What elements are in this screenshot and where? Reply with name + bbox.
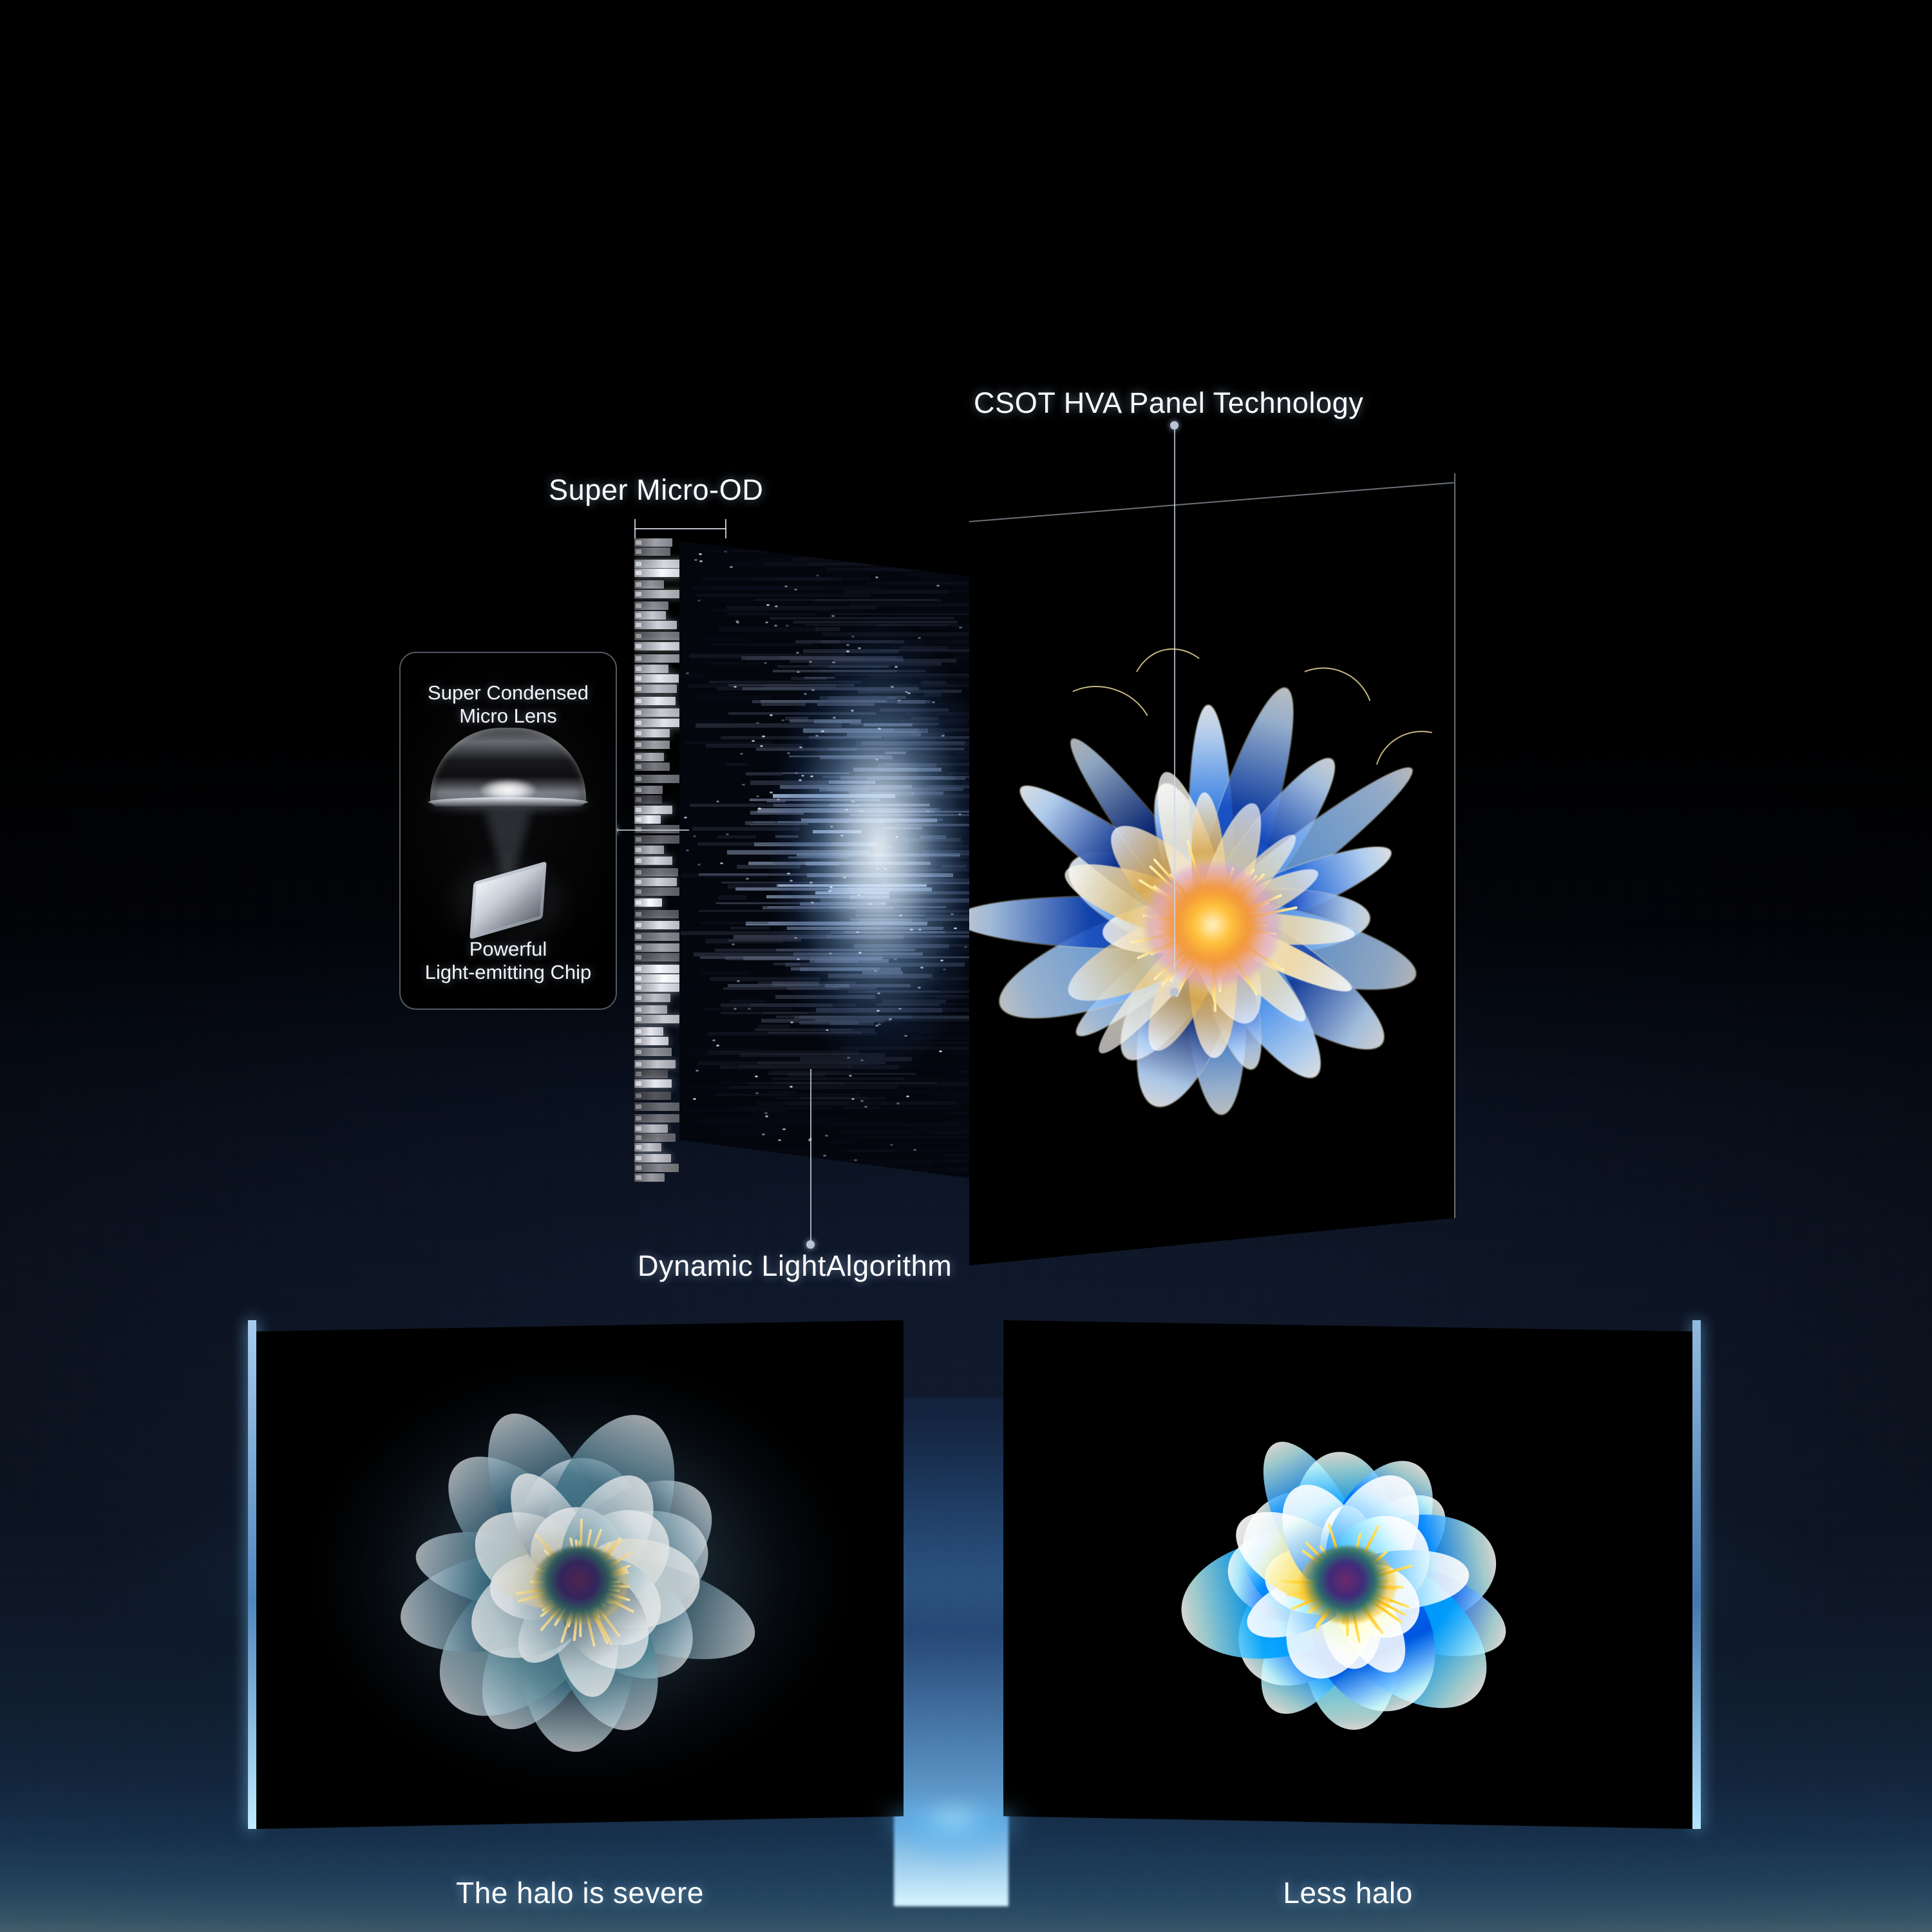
backlight-specular-dot xyxy=(918,637,921,639)
backlight-slice xyxy=(814,599,941,601)
led-emitter-dot xyxy=(636,923,641,927)
backlight-specular-dot xyxy=(693,1098,696,1100)
leader-line-microlens xyxy=(613,829,689,831)
micro-lens-callout-box: Super Condensed Micro Lens Powerful Ligh… xyxy=(399,652,617,1010)
backlight-slice xyxy=(690,1176,770,1178)
led-emitter-dot xyxy=(636,788,641,792)
backlight-slice xyxy=(687,987,706,990)
backlight-specular-dot xyxy=(906,1095,909,1097)
backlight-slice xyxy=(722,1164,858,1167)
led-emitter-dot xyxy=(636,858,641,863)
backlight-slice xyxy=(681,674,708,678)
caption-left-tv: The halo is severe xyxy=(256,1875,904,1910)
led-emitter-dot xyxy=(636,1007,641,1012)
led-emitter-dot xyxy=(636,955,641,960)
led-emitter-dot xyxy=(636,1029,641,1034)
led-strip-segment xyxy=(634,654,683,663)
led-strip-segment xyxy=(634,835,682,844)
led-strip-segment xyxy=(634,953,686,961)
backlight-specular-dot xyxy=(736,621,739,623)
backlight-slice xyxy=(911,1182,965,1185)
backlight-specular-dot xyxy=(851,800,855,802)
backlight-specular-dot xyxy=(790,880,793,882)
backlight-specular-dot xyxy=(852,547,855,549)
backlight-specular-dot xyxy=(737,980,740,982)
backlight-slice xyxy=(693,692,744,696)
backlight-slice xyxy=(808,562,956,565)
backlight-specular-dot xyxy=(833,717,836,719)
led-emitter-dot xyxy=(636,764,641,769)
backlight-specular-dot xyxy=(860,810,863,812)
backlight-slice xyxy=(703,939,728,943)
backlight-specular-dot xyxy=(918,929,922,931)
backlight-specular-dot xyxy=(829,886,833,888)
backlight-specular-dot xyxy=(954,927,957,929)
led-emitter-dot xyxy=(636,667,641,671)
backlight-specular-dot xyxy=(845,809,848,811)
backlight-specular-dot xyxy=(898,1008,902,1010)
led-emitter-dot xyxy=(636,817,641,822)
backlight-specular-dot xyxy=(697,864,701,866)
backlight-specular-dot xyxy=(756,722,759,724)
backlight-specular-dot xyxy=(831,615,835,617)
led-emitter-dot xyxy=(636,699,641,703)
backlight-specular-dot xyxy=(895,666,898,668)
dimension-cap-left xyxy=(634,519,636,538)
led-strip-segment xyxy=(634,1103,684,1111)
label-panel-technology: CSOT HVA Panel Technology xyxy=(974,386,1363,420)
led-emitter-dot xyxy=(636,889,641,894)
backlight-specular-dot xyxy=(734,686,737,688)
backlight-specular-dot xyxy=(732,943,735,945)
led-emitter-dot xyxy=(636,571,641,575)
backlight-slice xyxy=(713,586,785,589)
backlight-specular-dot xyxy=(762,1133,765,1135)
backlight-specular-dot xyxy=(819,555,822,557)
led-emitter-dot xyxy=(636,900,641,905)
led-emitter-dot xyxy=(636,562,641,566)
led-emitter-dot xyxy=(636,540,641,545)
backlight-specular-dot xyxy=(828,890,831,892)
backlight-specular-dot xyxy=(775,605,778,607)
backlight-slice xyxy=(681,1086,728,1089)
led-emitter-dot xyxy=(636,710,641,715)
backlight-specular-dot xyxy=(940,960,943,961)
backlight-specular-dot xyxy=(851,710,854,712)
backlight-slice xyxy=(687,1164,801,1166)
backlight-specular-dot xyxy=(884,868,887,870)
backlight-specular-dot xyxy=(752,740,755,742)
backlight-slice xyxy=(866,582,971,585)
led-emitter-dot xyxy=(636,1156,641,1160)
backlight-specular-dot xyxy=(730,566,733,568)
lens-base-rim xyxy=(428,797,588,807)
backlight-specular-dot xyxy=(890,1144,893,1146)
led-emitter-dot xyxy=(636,976,641,981)
leader-dot-top-panel-tech xyxy=(1170,421,1179,430)
led-emitter-dot xyxy=(636,837,641,842)
backlight-specular-dot xyxy=(849,1075,852,1077)
backlight-slice xyxy=(755,1168,777,1171)
leader-dot-algorithm xyxy=(806,1240,815,1249)
backlight-specular-dot xyxy=(799,746,802,748)
backlight-specular-dot xyxy=(846,650,849,652)
backlight-specular-dot xyxy=(875,576,878,578)
backlight-specular-dot xyxy=(755,1092,759,1094)
led-emitter-dot xyxy=(636,755,641,759)
backlight-specular-dot xyxy=(780,1162,783,1164)
backlight-specular-dot xyxy=(770,791,773,793)
backlight-slice xyxy=(891,1168,969,1172)
led-emitter-dot xyxy=(636,1135,641,1140)
flower-core-glow xyxy=(1145,864,1280,986)
led-emitter-dot xyxy=(636,582,641,587)
led-emitter-dot xyxy=(636,623,641,627)
right-tv-bezel-edge xyxy=(1692,1320,1701,1829)
callout-chip-title-line1: Powerful xyxy=(469,938,547,960)
backlight-specular-dot xyxy=(896,1103,900,1104)
backlight-specular-dot xyxy=(734,1008,737,1010)
callout-chip-title-line2: Light-emitting Chip xyxy=(425,961,591,983)
led-emitter-dot xyxy=(636,656,641,661)
led-emitter-dot xyxy=(636,1081,641,1086)
backlight-specular-dot xyxy=(936,585,940,587)
backlight-slice xyxy=(726,1149,819,1151)
backlight-specular-dot xyxy=(778,1139,781,1141)
backlight-specular-dot xyxy=(726,833,729,835)
backlight-specular-dot xyxy=(795,772,798,774)
led-emitter-dot xyxy=(636,1104,641,1109)
right-tv-screen xyxy=(1003,1320,1692,1829)
backlight-specular-dot xyxy=(696,1070,699,1072)
backlight-specular-dot xyxy=(684,817,687,819)
backlight-specular-dot xyxy=(787,873,790,875)
backlight-specular-dot xyxy=(811,902,814,904)
backlight-specular-dot xyxy=(816,574,819,576)
halo-comparison-section: The halo is severe Less halo xyxy=(0,1320,1932,1932)
backlight-slice xyxy=(795,546,913,549)
backlight-slice xyxy=(706,550,886,553)
led-emitter-dot xyxy=(636,1116,641,1121)
local-dimming-glow xyxy=(741,605,1007,1133)
led-emitter-dot xyxy=(636,808,641,812)
led-emitter-dot xyxy=(636,777,641,781)
backlight-specular-dot xyxy=(686,849,689,851)
led-emitter-dot xyxy=(636,603,641,608)
backlight-specular-dot xyxy=(825,1135,828,1137)
led-emitter-dot xyxy=(636,721,641,725)
backlight-specular-dot xyxy=(829,1163,832,1165)
callout-chip-title: Powerful Light-emitting Chip xyxy=(401,938,616,984)
led-strip-segment xyxy=(634,933,687,941)
backlight-slice xyxy=(699,1182,842,1185)
backlight-specular-dot xyxy=(823,1155,826,1157)
peony-core xyxy=(532,1546,629,1624)
backlight-specular-dot xyxy=(794,589,797,591)
left-tv-bezel-edge xyxy=(248,1320,256,1829)
led-strip-segment xyxy=(634,943,683,952)
backlight-specular-dot xyxy=(840,835,844,837)
led-emitter-dot xyxy=(636,731,641,735)
exploded-panel-diagram: Super Condensed Micro Lens Powerful Ligh… xyxy=(0,0,1932,1340)
backlight-specular-dot xyxy=(920,967,923,969)
callout-lens-title-line2: Micro Lens xyxy=(459,705,557,727)
backlight-specular-dot xyxy=(716,800,719,802)
backlight-slice xyxy=(792,558,909,562)
backlight-specular-dot xyxy=(844,551,847,553)
right-tv-flower-image xyxy=(1116,1398,1580,1772)
left-tv-screen xyxy=(256,1320,904,1829)
label-super-micro-od: Super Micro-OD xyxy=(549,473,763,507)
backlight-specular-dot xyxy=(958,813,961,815)
led-emitter-dot xyxy=(636,1126,641,1131)
backlight-specular-dot xyxy=(875,759,878,761)
backlight-specular-dot xyxy=(694,559,697,561)
backlight-slice xyxy=(752,577,842,581)
left-tv-flower-image xyxy=(348,1398,812,1772)
led-emitter-dot xyxy=(636,1166,641,1170)
callout-lens-title: Super Condensed Micro Lens xyxy=(401,681,616,728)
led-emitter-dot xyxy=(636,634,641,638)
led-emitter-dot xyxy=(636,1017,641,1021)
backlight-slice xyxy=(816,1172,874,1175)
led-emitter-dot xyxy=(636,676,641,681)
led-emitter-dot xyxy=(636,996,641,1000)
led-emitter-dot xyxy=(636,934,641,939)
backlight-specular-dot xyxy=(951,913,954,915)
backlight-specular-dot xyxy=(829,952,832,954)
backlight-specular-dot xyxy=(712,1039,715,1041)
backlight-specular-dot xyxy=(765,1115,768,1117)
backlight-specular-dot xyxy=(748,1008,751,1010)
backlight-specular-dot xyxy=(954,544,958,545)
backlight-slice xyxy=(858,558,958,560)
backlight-slice xyxy=(904,573,943,577)
callout-lens-title-line1: Super Condensed xyxy=(428,681,589,704)
led-strip-segment xyxy=(634,569,684,577)
led-emitter-dot xyxy=(636,743,641,747)
led-emitter-dot xyxy=(636,945,641,950)
led-emitter-dot xyxy=(636,1062,641,1066)
backlight-specular-dot xyxy=(881,902,884,904)
led-emitter-dot xyxy=(636,1072,641,1076)
backlight-slice xyxy=(777,541,880,544)
caption-right-tv: Less halo xyxy=(1003,1875,1692,1910)
backlight-slice xyxy=(770,546,877,550)
backlight-slice xyxy=(869,550,937,552)
led-emitter-dot xyxy=(636,1039,641,1043)
dimension-cap-right xyxy=(725,519,726,538)
backlight-slice xyxy=(696,594,871,597)
backlight-specular-dot xyxy=(693,835,696,837)
backlight-slice xyxy=(755,558,807,562)
backlight-slice xyxy=(763,1168,822,1171)
label-dynamic-light-algorithm: Dynamic LightAlgorithm xyxy=(638,1249,952,1283)
backlight-slice xyxy=(829,1141,851,1144)
backlight-specular-dot xyxy=(878,728,881,730)
backlight-specular-dot xyxy=(862,558,865,560)
backlight-specular-dot xyxy=(847,1057,850,1059)
backlight-slice xyxy=(856,541,967,544)
led-emitter-dot xyxy=(636,870,641,875)
led-strip-segment xyxy=(634,642,687,650)
backlight-specular-dot xyxy=(804,693,807,695)
backlight-slice xyxy=(759,541,797,544)
backlight-specular-dot xyxy=(910,929,913,931)
led-emitter-dot xyxy=(636,967,641,971)
backlight-specular-dot xyxy=(889,846,892,848)
led-emitter-dot xyxy=(636,1145,641,1150)
micro-od-dimension-bracket xyxy=(634,528,726,529)
backlight-specular-dot xyxy=(913,1149,916,1151)
led-strip-segment xyxy=(634,590,684,598)
backlight-slice xyxy=(849,1149,895,1153)
led-strip-segment xyxy=(634,708,683,717)
led-emitter-dot xyxy=(636,880,641,884)
backlight-specular-dot xyxy=(876,1010,880,1012)
backlight-specular-dot xyxy=(760,745,763,747)
backlight-specular-dot xyxy=(724,551,727,553)
led-emitter-dot xyxy=(636,549,641,554)
backlight-specular-dot xyxy=(796,652,799,654)
leader-line-algorithm xyxy=(810,1069,811,1244)
backlight-specular-dot xyxy=(864,1106,867,1108)
leader-line-panel-tech xyxy=(1174,425,1175,992)
backlight-slice xyxy=(921,577,957,580)
led-emitter-dot xyxy=(636,687,641,691)
backlight-specular-dot xyxy=(720,862,723,864)
leader-dot-bottom-panel-tech xyxy=(1170,988,1179,996)
backlight-specular-dot xyxy=(797,958,800,960)
backlight-specular-dot xyxy=(889,1018,892,1020)
backlight-slice xyxy=(801,554,891,558)
led-emitter-dot xyxy=(636,592,641,596)
backlight-specular-dot xyxy=(943,969,946,971)
backlight-specular-dot xyxy=(755,1075,758,1077)
floor-flare-between-tvs xyxy=(857,1810,1050,1932)
backlight-slice xyxy=(754,1182,900,1185)
backlight-slice xyxy=(762,1159,933,1164)
led-emitter-dot xyxy=(636,1094,641,1098)
backlight-specular-dot xyxy=(799,779,802,781)
scene-root: Super Condensed Micro Lens Powerful Ligh… xyxy=(0,0,1932,1932)
backlight-specular-dot xyxy=(746,878,749,880)
backlight-slice xyxy=(869,1180,967,1184)
backlight-slice xyxy=(726,1182,844,1185)
backlight-slice xyxy=(886,1144,907,1147)
backlight-specular-dot xyxy=(876,868,879,870)
peony-core xyxy=(1300,1546,1396,1624)
backlight-specular-dot xyxy=(699,553,702,555)
led-emitter-dot xyxy=(636,644,641,649)
led-strip-segment xyxy=(634,983,683,992)
backlight-specular-dot xyxy=(764,662,767,664)
front-display-panel xyxy=(969,473,1455,1265)
backlight-specular-dot xyxy=(869,903,872,905)
backlight-specular-dot xyxy=(821,730,824,732)
led-emitter-dot xyxy=(636,797,641,802)
led-emitter-dot xyxy=(636,848,641,852)
led-emitter-dot xyxy=(636,1175,641,1180)
backlight-specular-dot xyxy=(858,952,862,954)
backlight-slice xyxy=(715,1164,886,1168)
backlight-specular-dot xyxy=(764,1112,768,1114)
led-emitter-dot xyxy=(636,912,641,916)
backlight-specular-dot xyxy=(964,946,967,948)
led-strip-segment xyxy=(634,632,687,640)
backlight-specular-dot xyxy=(699,560,703,562)
backlight-specular-dot xyxy=(815,735,819,737)
backlight-specular-dot xyxy=(811,689,815,691)
led-emitter-dot xyxy=(636,1050,641,1054)
led-emitter-dot xyxy=(636,613,641,618)
display-flower-artwork xyxy=(969,641,1455,1208)
led-emitter-dot xyxy=(636,985,641,990)
backlight-specular-dot xyxy=(710,1150,713,1152)
